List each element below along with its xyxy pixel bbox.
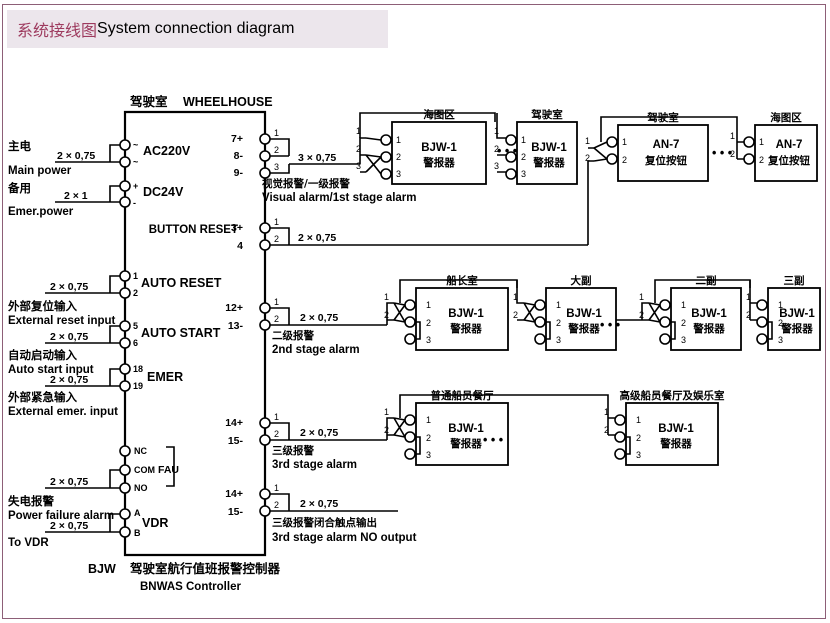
pinnum-r3-1: 1 bbox=[274, 297, 279, 307]
pinlabel-r3-devD-2: 2 bbox=[778, 318, 783, 328]
label-main-power-cn: 主电 bbox=[8, 139, 31, 153]
label-vdr-en: To VDR bbox=[8, 537, 49, 549]
mark-ac-l2: ~ bbox=[133, 157, 138, 167]
terminal-15m-a[interactable] bbox=[260, 435, 270, 445]
pin-r4-devB-3[interactable] bbox=[615, 449, 625, 459]
mark-autostart-1: 5 bbox=[133, 321, 138, 331]
wire-r2-devB-stub bbox=[737, 133, 744, 159]
pinlabel-r2-devA-1: 1 bbox=[622, 137, 627, 147]
label-visual-alarm-en: Visual alarm/1st stage alarm bbox=[262, 192, 417, 204]
label-emer-en: External emer. input bbox=[8, 406, 118, 418]
pin-r3-devB-2[interactable] bbox=[535, 317, 545, 327]
pin-r3-devA-2[interactable] bbox=[405, 317, 415, 327]
stubnum-r3a-1: 1 bbox=[384, 292, 389, 302]
mark-autoreset-1: 1 bbox=[133, 271, 138, 281]
pinlabel-r2-devB-2: 2 bbox=[759, 155, 764, 165]
stubnum-r4a-2: 2 bbox=[384, 425, 389, 435]
pin-r2-devA-2[interactable] bbox=[607, 154, 617, 164]
mark-emer-2: 19 bbox=[133, 381, 143, 391]
pinnum-r1-1: 1 bbox=[274, 128, 279, 138]
pinlabel-r1-devB-2: 2 bbox=[521, 152, 526, 162]
wire-r3-devC-cross bbox=[649, 303, 660, 322]
terminal-15m-b[interactable] bbox=[260, 506, 270, 516]
pin-r3-devC-3[interactable] bbox=[660, 334, 670, 344]
pinnum-r1-3: 3 bbox=[274, 162, 279, 172]
terminal-13m[interactable] bbox=[260, 320, 270, 330]
terminal-vdr-a[interactable] bbox=[120, 509, 130, 519]
caption-code: BJW bbox=[88, 562, 116, 576]
terminal-4[interactable] bbox=[260, 240, 270, 250]
wire-r4-devB-stub bbox=[608, 403, 615, 435]
mark-fau-nc: NC bbox=[134, 446, 147, 456]
mark-dc-l2: - bbox=[133, 198, 136, 208]
device-type-r3-devA: 警报器 bbox=[449, 322, 482, 335]
terminal-9m[interactable] bbox=[260, 168, 270, 178]
wire-r3-devA-cross bbox=[394, 303, 405, 322]
cable-emer: 2 × 0,75 bbox=[50, 374, 88, 386]
termnum-8m: 8- bbox=[234, 150, 244, 162]
pin-r4-devA-1[interactable] bbox=[405, 415, 415, 425]
cable-fau: 2 × 0,75 bbox=[50, 476, 88, 488]
mark-vdr-b: B bbox=[134, 528, 141, 538]
label-no-output-cn: 三级报警闭合触点输出 bbox=[272, 516, 377, 529]
terminal-fau-com[interactable] bbox=[120, 465, 130, 475]
stubnum-r4b-2: 2 bbox=[604, 425, 609, 435]
device-model-r3-devB: BJW-1 bbox=[566, 308, 602, 320]
termnum-13m: 13- bbox=[228, 320, 244, 332]
termnum-4: 4 bbox=[237, 240, 243, 252]
wheelhouse-label-en: WHEELHOUSE bbox=[183, 95, 273, 109]
label-autoreset-en: External reset input bbox=[8, 315, 116, 327]
pin-r1-devB-3[interactable] bbox=[506, 169, 516, 179]
termnum-15m-b: 15- bbox=[228, 506, 244, 518]
termnum-9m: 9- bbox=[234, 167, 244, 179]
device-model-r4-devB: BJW-1 bbox=[658, 423, 694, 435]
pin-r4-devA-2[interactable] bbox=[405, 432, 415, 442]
stubnum-r4a-1: 1 bbox=[384, 407, 389, 417]
device-model-r4-devA: BJW-1 bbox=[448, 423, 484, 435]
caption-cn: 驾驶室航行值班报警控制器 bbox=[130, 561, 281, 576]
label-visual-alarm-cn: 视觉报警/一级报警 bbox=[262, 177, 350, 190]
device-type-r2-devB: 复位按钮 bbox=[767, 154, 810, 167]
label-emer-power-en: Emer.power bbox=[8, 206, 74, 218]
wheelhouse-label-cn: 驾驶室 bbox=[130, 94, 168, 109]
terminal-fau-nc[interactable] bbox=[120, 446, 130, 456]
termnum-14p-a: 14+ bbox=[225, 417, 243, 429]
cable-autoreset: 2 × 0,75 bbox=[50, 281, 88, 293]
wire-r1-devA-cross bbox=[366, 138, 381, 174]
label-fau-cn: 失电报警 bbox=[8, 494, 54, 508]
pin-r3-devD-2[interactable] bbox=[757, 317, 767, 327]
pin-r4-devA-3[interactable] bbox=[405, 449, 415, 459]
label-autostart-cn: 自动启动输入 bbox=[8, 348, 77, 362]
pinlabel-r1-devB-1: 1 bbox=[521, 135, 526, 145]
stubnum-r3a-2: 2 bbox=[384, 310, 389, 320]
device-model-r1-devB: BJW-1 bbox=[531, 142, 567, 154]
pin-r1-devB-2[interactable] bbox=[506, 152, 516, 162]
terminal-dc24v-l1[interactable] bbox=[120, 181, 130, 191]
device-location-r3-devD: 三副 bbox=[784, 274, 805, 287]
device-location-r3-devB: 大副 bbox=[571, 274, 592, 287]
label-autoreset-cn: 外部复位输入 bbox=[7, 299, 77, 313]
pinlabel-r3-devA-2: 2 bbox=[426, 318, 431, 328]
mark-ac-l1: ~ bbox=[133, 140, 138, 150]
stubnum-r1-2: 2 bbox=[356, 144, 361, 154]
pinlabel-r4-devB-3: 3 bbox=[636, 450, 641, 460]
connection-diagram: 驾驶室 WHEELHOUSE ~ ~ AC220V 2 × 0,75 主电 Ma… bbox=[0, 0, 830, 623]
pinlabel-r3-devB-3: 3 bbox=[556, 335, 561, 345]
termnum-12p: 12+ bbox=[225, 302, 243, 314]
pinlabel-r4-devA-1: 1 bbox=[426, 415, 431, 425]
device-location-r2-devB: 海图区 bbox=[770, 111, 802, 124]
cable-visual-alarm: 3 × 0,75 bbox=[298, 152, 336, 164]
termnum-14p-b: 14+ bbox=[225, 488, 243, 500]
label-emer-power-cn: 备用 bbox=[7, 181, 31, 195]
pin-r3-devB-3[interactable] bbox=[535, 334, 545, 344]
ellipsis-r4: • • • bbox=[483, 433, 503, 447]
pinlabel-r3-devC-2: 2 bbox=[681, 318, 686, 328]
stubnum-r3d-1: 1 bbox=[746, 292, 751, 302]
pinlabel-r3-devA-1: 1 bbox=[426, 300, 431, 310]
pinlabel-r3-devD-3: 3 bbox=[778, 335, 783, 345]
terminal-3p[interactable] bbox=[260, 223, 270, 233]
mark-vdr-a: A bbox=[134, 508, 141, 518]
pinlabel-r3-devB-2: 2 bbox=[556, 318, 561, 328]
wire-r3-devC-stub bbox=[616, 303, 649, 320]
signal-autoreset: AUTO RESET bbox=[141, 276, 222, 290]
signal-autostart: AUTO START bbox=[141, 326, 221, 340]
label-3rd-stage-en: 3rd stage alarm bbox=[272, 459, 357, 471]
pinnum-r3-2: 2 bbox=[274, 314, 279, 324]
device-box-r2-devA bbox=[618, 125, 708, 181]
device-type-r1-devB: 警报器 bbox=[532, 156, 565, 169]
pin-r3-devD-1[interactable] bbox=[757, 300, 767, 310]
terminal-ac220v-l2[interactable] bbox=[120, 157, 130, 167]
caption-en: BNWAS Controller bbox=[140, 581, 241, 593]
signal-dc24v: DC24V bbox=[143, 185, 184, 199]
device-type-r1-devA: 警报器 bbox=[422, 156, 455, 169]
stubnum-r3c-2: 2 bbox=[639, 310, 644, 320]
pinlabel-r3-devC-3: 3 bbox=[681, 335, 686, 345]
device-model-r2-devA: AN-7 bbox=[653, 139, 680, 151]
cable-emer-power: 2 × 1 bbox=[64, 190, 88, 202]
pin-r2-devB-2[interactable] bbox=[744, 154, 754, 164]
pin-r1-devB-1[interactable] bbox=[506, 135, 516, 145]
stubnum-r2b-1: 1 bbox=[730, 131, 735, 141]
pin-r3-devC-1[interactable] bbox=[660, 300, 670, 310]
cable-button-reset: 2 × 0,75 bbox=[298, 232, 336, 244]
wire-r4-devA-cross bbox=[394, 418, 405, 437]
device-model-r2-devB: AN-7 bbox=[776, 139, 803, 151]
label-emer-cn: 外部紧急输入 bbox=[7, 390, 77, 404]
device-type-r4-devB: 警报器 bbox=[659, 437, 692, 450]
device-type-r4-devA: 警报器 bbox=[449, 437, 482, 450]
termnum-7p: 7+ bbox=[231, 133, 243, 145]
pinlabel-r2-devB-1: 1 bbox=[759, 137, 764, 147]
diagram-page: 系统接线图 System connection diagram 驾驶室 WHEE… bbox=[0, 0, 830, 623]
stubnum-r2a-2: 2 bbox=[585, 153, 590, 163]
mark-fau-no: NO bbox=[134, 483, 148, 493]
terminal-vdr-b[interactable] bbox=[120, 527, 130, 537]
signal-emer: EMER bbox=[147, 370, 183, 384]
device-box-r2-devB bbox=[755, 125, 817, 181]
device-type-r3-devD: 警报器 bbox=[780, 322, 813, 335]
stubnum-r1b-1: 1 bbox=[494, 126, 499, 136]
termnum-15m-a: 15- bbox=[228, 435, 244, 447]
pin-r2-devB-1[interactable] bbox=[744, 137, 754, 147]
terminal-8m[interactable] bbox=[260, 151, 270, 161]
pinlabel-r3-devB-1: 1 bbox=[556, 300, 561, 310]
pinlabel-r1-devA-3: 3 bbox=[396, 169, 401, 179]
device-type-r3-devB: 警报器 bbox=[567, 322, 600, 335]
stubnum-r1-3: 3 bbox=[356, 161, 361, 171]
pin-r1-devA-2[interactable] bbox=[381, 152, 391, 162]
cable-autostart: 2 × 0,75 bbox=[50, 331, 88, 343]
pin-r3-devB-1[interactable] bbox=[535, 300, 545, 310]
pin-r3-devA-1[interactable] bbox=[405, 300, 415, 310]
pinnum-r4-1: 1 bbox=[274, 412, 279, 422]
cable-3rd-stage: 2 × 0,75 bbox=[300, 427, 338, 439]
signal-ac220v: AC220V bbox=[143, 144, 191, 158]
pin-r2-devA-1[interactable] bbox=[607, 137, 617, 147]
stubnum-r3c-1: 1 bbox=[639, 292, 644, 302]
stubnum-r2a-1: 1 bbox=[585, 136, 590, 146]
cable-2nd-stage: 2 × 0,75 bbox=[300, 312, 338, 324]
stubnum-r3d-2: 2 bbox=[746, 310, 751, 320]
stubnum-r3b-1: 1 bbox=[513, 292, 518, 302]
label-2nd-stage-cn: 二级报警 bbox=[272, 329, 314, 342]
terminal-autostart-1[interactable] bbox=[120, 321, 130, 331]
pinlabel-r4-devA-3: 3 bbox=[426, 450, 431, 460]
pinlabel-r4-devB-2: 2 bbox=[636, 433, 641, 443]
wire-r2-devA-cross bbox=[594, 142, 607, 161]
terminal-emer-2[interactable] bbox=[120, 381, 130, 391]
pinlabel-r4-devA-2: 2 bbox=[426, 433, 431, 443]
pinnum-r1-2: 2 bbox=[274, 145, 279, 155]
stubnum-r2b-2: 2 bbox=[730, 149, 735, 159]
terminal-7p[interactable] bbox=[260, 134, 270, 144]
mark-dc-l1: + bbox=[133, 181, 138, 191]
device-model-r1-devA: BJW-1 bbox=[421, 142, 457, 154]
terminal-14p-a[interactable] bbox=[260, 418, 270, 428]
label-2nd-stage-en: 2nd stage alarm bbox=[272, 344, 360, 356]
pinnum-r5-1: 1 bbox=[274, 483, 279, 493]
cable-main-power: 2 × 0,75 bbox=[57, 150, 95, 162]
pinlabel-r1-devB-3: 3 bbox=[521, 169, 526, 179]
stubnum-r1b-2: 2 bbox=[494, 144, 499, 154]
device-location-r1-devA: 海图区 bbox=[423, 108, 455, 121]
terminal-dc24v-l2[interactable] bbox=[120, 197, 130, 207]
label-main-power-en: Main power bbox=[8, 165, 72, 177]
pin-r1-devA-3[interactable] bbox=[381, 169, 391, 179]
pinlabel-r2-devA-2: 2 bbox=[622, 155, 627, 165]
device-model-r3-devD: BJW-1 bbox=[779, 308, 815, 320]
device-type-r2-devA: 复位按钮 bbox=[644, 154, 687, 167]
terminal-12p[interactable] bbox=[260, 303, 270, 313]
pin-r3-devD-3[interactable] bbox=[757, 334, 767, 344]
label-button-reset: BUTTON RESET bbox=[149, 224, 238, 236]
pinlabel-r3-devD-1: 1 bbox=[778, 300, 783, 310]
terminal-autoreset-2[interactable] bbox=[120, 288, 130, 298]
pinlabel-r1-devA-1: 1 bbox=[396, 135, 401, 145]
pin-r3-devA-3[interactable] bbox=[405, 334, 415, 344]
label-no-output-en: 3rd stage alarm NO output bbox=[272, 532, 417, 544]
wire-r3-devB-cross bbox=[524, 303, 535, 322]
pinlabel-r3-devA-3: 3 bbox=[426, 335, 431, 345]
device-location-r4-devB: 高级船员餐厅及娱乐室 bbox=[620, 389, 725, 402]
pinnum-r2-2: 2 bbox=[274, 234, 279, 244]
stubnum-r3b-2: 2 bbox=[513, 310, 518, 320]
terminal-ac220v-l1[interactable] bbox=[120, 140, 130, 150]
terminal-autostart-2[interactable] bbox=[120, 338, 130, 348]
pinnum-r5-2: 2 bbox=[274, 500, 279, 510]
terminal-14p-b[interactable] bbox=[260, 489, 270, 499]
pin-r3-devC-2[interactable] bbox=[660, 317, 670, 327]
pin-r1-devA-1[interactable] bbox=[381, 135, 391, 145]
wire-r3-devB-stub bbox=[517, 280, 524, 320]
stubnum-r1b-3: 3 bbox=[494, 161, 499, 171]
pinlabel-r1-devA-2: 2 bbox=[396, 152, 401, 162]
pin-r4-devB-1[interactable] bbox=[615, 415, 625, 425]
pinlabel-r3-devC-1: 1 bbox=[681, 300, 686, 310]
device-type-r3-devC: 警报器 bbox=[692, 322, 725, 335]
wire-r3-devD-stub bbox=[750, 280, 757, 320]
cable-no-output: 2 × 0,75 bbox=[300, 498, 338, 510]
signal-fau: FAU bbox=[158, 464, 179, 476]
stubnum-r4b-1: 1 bbox=[604, 407, 609, 417]
terminal-emer-1[interactable] bbox=[120, 364, 130, 374]
label-3rd-stage-cn: 三级报警 bbox=[272, 444, 314, 457]
device-location-r1-devB: 驾驶室 bbox=[531, 108, 563, 121]
mark-fau-com: COM bbox=[134, 465, 155, 475]
device-model-r3-devA: BJW-1 bbox=[448, 308, 484, 320]
device-model-r3-devC: BJW-1 bbox=[691, 308, 727, 320]
pin-r4-devB-2[interactable] bbox=[615, 432, 625, 442]
mark-autoreset-2: 2 bbox=[133, 288, 138, 298]
cable-vdr: 2 × 0,75 bbox=[50, 520, 88, 532]
terminal-autoreset-1[interactable] bbox=[120, 271, 130, 281]
pinlabel-r4-devB-1: 1 bbox=[636, 415, 641, 425]
signal-vdr: VDR bbox=[142, 516, 168, 530]
mark-autostart-2: 6 bbox=[133, 338, 138, 348]
pinnum-r2-1: 1 bbox=[274, 217, 279, 227]
terminal-fau-no[interactable] bbox=[120, 483, 130, 493]
mark-emer-1: 18 bbox=[133, 364, 143, 374]
pinnum-r4-2: 2 bbox=[274, 429, 279, 439]
